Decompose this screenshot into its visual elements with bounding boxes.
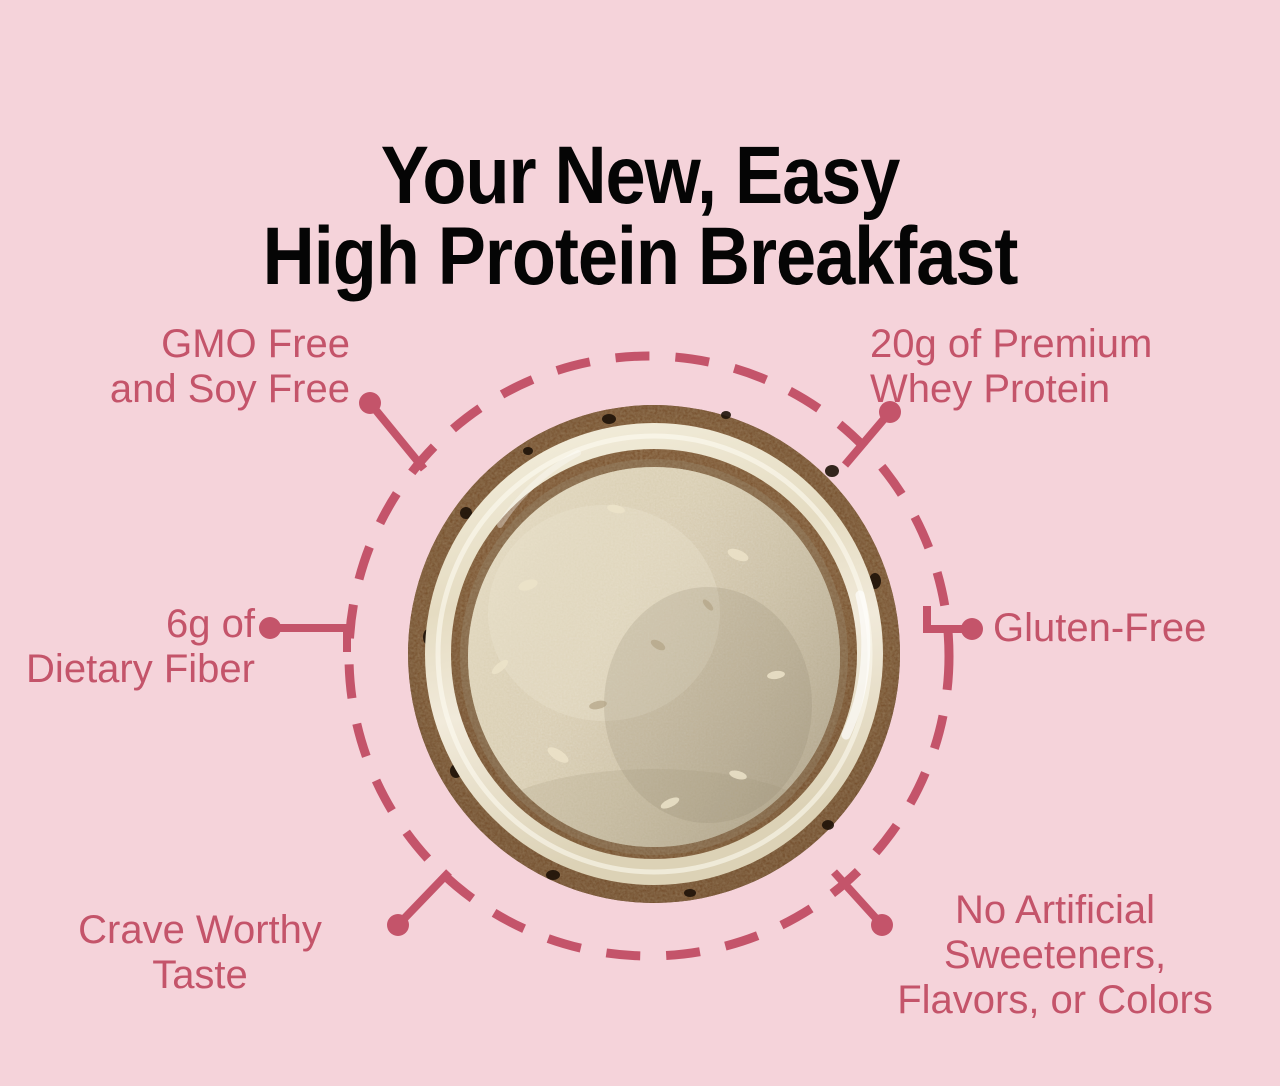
callout-gluten-free: Gluten-Free (993, 606, 1273, 651)
connector-dot-crave-worthy (387, 914, 409, 936)
headline-line-1: Your New, Easy (381, 130, 900, 221)
headline-line-2: High Protein Breakfast (77, 217, 1203, 297)
callout-whey-protein: 20g of Premium Whey Protein (870, 322, 1200, 412)
connector-dietary-fiber (270, 628, 347, 652)
connector-gluten-free (927, 606, 970, 629)
callout-dietary-fiber: 6g of Dietary Fiber (10, 602, 255, 692)
connector-dot-dietary-fiber (259, 617, 281, 639)
connector-dot-gluten-free (961, 618, 983, 640)
callout-crave-worthy-taste: Crave Worthy Taste (20, 908, 380, 998)
connector-dot-gmo-free (359, 392, 381, 414)
callout-gmo-free: GMO Free and Soy Free (20, 322, 350, 412)
callout-no-artificial: No Artificial Sweeteners, Flavors, or Co… (890, 888, 1220, 1022)
product-bowl-image (408, 405, 900, 903)
infographic-canvas: Your New, Easy High Protein Breakfast (0, 0, 1280, 1086)
